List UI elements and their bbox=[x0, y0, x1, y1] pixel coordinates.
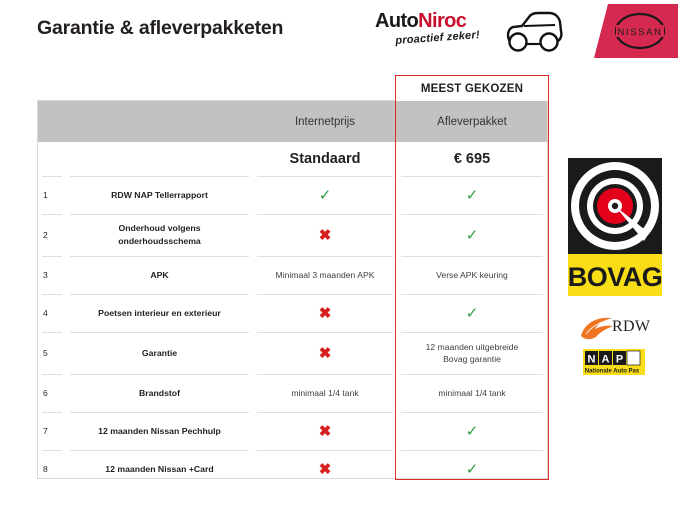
row-delivery-package: 12 maanden uitgebreide Bovag garantie bbox=[397, 332, 547, 374]
table-row: 5 Garantie ✖ 12 maanden uitgebreide Bova… bbox=[38, 332, 547, 374]
row-internet-price: ✖ bbox=[253, 332, 397, 374]
nap-logo: N A P Nationale Auto Pas bbox=[583, 349, 645, 375]
table-row: 2 Onderhoud volgens onderhoudsschema ✖ ✓ bbox=[38, 214, 547, 256]
rdw-label: RDW bbox=[612, 318, 650, 336]
row-item-label: 12 maanden Nissan +Card bbox=[66, 450, 253, 488]
header-cell-internet-price: Internetprijs bbox=[253, 101, 397, 142]
row-item-label: Garantie bbox=[66, 332, 253, 374]
most-chosen-badge: MEEST GEKOZEN bbox=[396, 76, 548, 101]
cross-icon: ✖ bbox=[319, 462, 332, 477]
row-delivery-package: ✓ bbox=[397, 176, 547, 214]
bovag-logo: BOVAG bbox=[566, 158, 666, 298]
table-row: 4 Poetsen interieur en exterieur ✖ ✓ bbox=[38, 294, 547, 332]
slide-root: Garantie & afleverpakketen AutoNiroc pro… bbox=[0, 0, 685, 514]
row-delivery-package: ✓ bbox=[397, 214, 547, 256]
price-cell-number bbox=[38, 142, 66, 176]
niroc-word-auto: Auto bbox=[375, 10, 418, 32]
table-row: 3 APK Minimaal 3 maanden APK Verse APK k… bbox=[38, 256, 547, 294]
row-internet-price: minimaal 1/4 tank bbox=[253, 374, 397, 412]
comparison-table: Internetprijs Afleverpakket Standaard € … bbox=[37, 100, 548, 479]
svg-text:A: A bbox=[602, 354, 610, 366]
cross-icon: ✖ bbox=[319, 306, 332, 321]
header-cell-item bbox=[66, 101, 253, 142]
nissan-logo: NISSAN bbox=[594, 4, 678, 58]
price-cell-delivery-package: € 695 bbox=[397, 142, 547, 176]
svg-text:N: N bbox=[588, 354, 596, 366]
cross-icon: ✖ bbox=[319, 424, 332, 439]
header-cell-delivery-package: Afleverpakket bbox=[397, 101, 547, 142]
check-icon: ✓ bbox=[466, 228, 479, 243]
row-delivery-package: ✓ bbox=[397, 412, 547, 450]
check-icon: ✓ bbox=[466, 188, 479, 203]
row-item-label: Onderhoud volgens onderhoudsschema bbox=[66, 214, 253, 256]
cross-icon: ✖ bbox=[319, 228, 332, 243]
row-number: 4 bbox=[38, 294, 66, 332]
check-icon: ✓ bbox=[466, 424, 479, 439]
row-item-label: Brandstof bbox=[66, 374, 253, 412]
row-item-label: APK bbox=[66, 256, 253, 294]
check-icon: ✓ bbox=[466, 306, 479, 321]
auto-niroc-logo: AutoNiroc proactief zeker! bbox=[375, 8, 565, 56]
row-number: 8 bbox=[38, 450, 66, 488]
row-number: 3 bbox=[38, 256, 66, 294]
check-icon: ✓ bbox=[466, 462, 479, 477]
price-cell-internet-price: Standaard bbox=[253, 142, 397, 176]
row-number: 5 bbox=[38, 332, 66, 374]
row-internet-price: ✖ bbox=[253, 294, 397, 332]
row-number: 1 bbox=[38, 176, 66, 214]
cross-icon: ✖ bbox=[319, 346, 332, 361]
svg-text:Nationale Auto Pas: Nationale Auto Pas bbox=[585, 369, 640, 375]
row-number: 6 bbox=[38, 374, 66, 412]
table-row: 8 12 maanden Nissan +Card ✖ ✓ bbox=[38, 450, 547, 488]
table-row: 7 12 maanden Nissan Pechhulp ✖ ✓ bbox=[38, 412, 547, 450]
row-internet-price: ✖ bbox=[253, 214, 397, 256]
page-title: Garantie & afleverpakketen bbox=[37, 17, 283, 40]
svg-text:NISSAN: NISSAN bbox=[618, 27, 663, 38]
row-internet-price: ✖ bbox=[253, 412, 397, 450]
row-internet-price: Minimaal 3 maanden APK bbox=[253, 256, 397, 294]
row-item-label: 12 maanden Nissan Pechhulp bbox=[66, 412, 253, 450]
row-number: 7 bbox=[38, 412, 66, 450]
svg-text:BOVAG: BOVAG bbox=[568, 262, 663, 292]
niroc-word-niroc: Niroc bbox=[418, 10, 466, 32]
table-row: 6 Brandstof minimaal 1/4 tank minimaal 1… bbox=[38, 374, 547, 412]
row-internet-price: ✓ bbox=[253, 176, 397, 214]
car-outline-icon bbox=[503, 11, 565, 58]
price-cell-item bbox=[66, 142, 253, 176]
table-price-row: Standaard € 695 bbox=[38, 142, 547, 176]
niroc-wordmark: AutoNiroc bbox=[375, 10, 466, 33]
table-header-row: Internetprijs Afleverpakket bbox=[38, 101, 547, 142]
row-delivery-package: Verse APK keuring bbox=[397, 256, 547, 294]
row-item-label: Poetsen interieur en exterieur bbox=[66, 294, 253, 332]
row-delivery-package: ✓ bbox=[397, 450, 547, 488]
row-delivery-package: ✓ bbox=[397, 294, 547, 332]
row-number: 2 bbox=[38, 214, 66, 256]
row-internet-price: ✖ bbox=[253, 450, 397, 488]
header-cell-number bbox=[38, 101, 66, 142]
row-item-label: RDW NAP Tellerrapport bbox=[66, 176, 253, 214]
check-icon: ✓ bbox=[319, 188, 332, 203]
svg-text:P: P bbox=[616, 354, 623, 366]
row-delivery-package: minimaal 1/4 tank bbox=[397, 374, 547, 412]
table-row: 1 RDW NAP Tellerrapport ✓ ✓ bbox=[38, 176, 547, 214]
